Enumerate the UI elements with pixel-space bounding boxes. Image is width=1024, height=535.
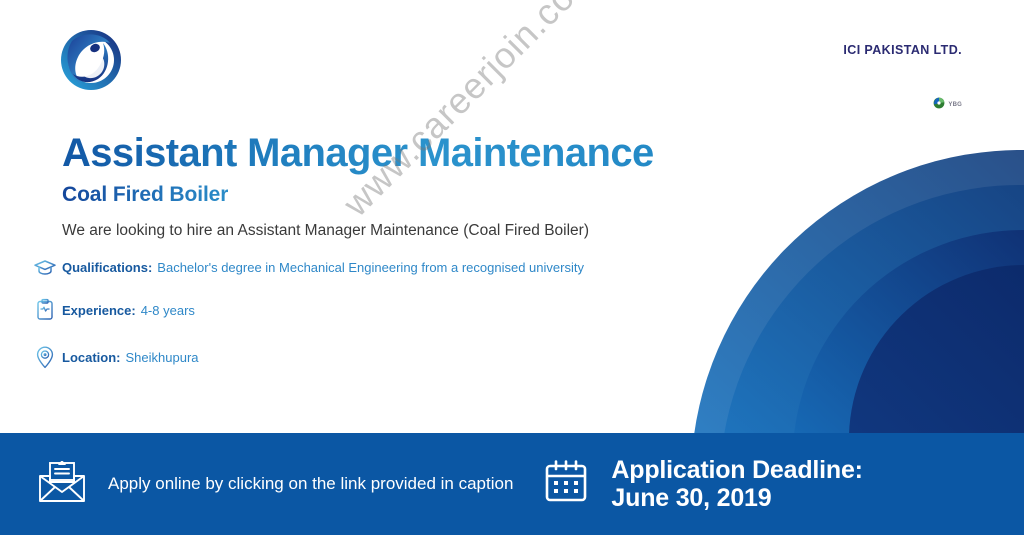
- clipboard-icon: [30, 297, 60, 323]
- graduation-cap-icon: [30, 254, 60, 280]
- job-intro-text: We are looking to hire an Assistant Mana…: [62, 222, 589, 240]
- location-pin-icon: [30, 344, 60, 370]
- experience-label: Experience:: [62, 303, 136, 318]
- ybg-sub-brand: YBG: [933, 96, 962, 114]
- job-subtitle: Coal Fired Boiler: [62, 183, 228, 207]
- detail-row-experience: Experience: 4-8 years: [30, 297, 195, 323]
- site-watermark: www.careerjoin.com: [335, 0, 605, 225]
- qualifications-label: Qualifications:: [62, 260, 152, 275]
- apply-online-block: Apply online by clicking on the link pro…: [0, 461, 513, 508]
- deadline-text: Application Deadline: June 30, 2019: [611, 456, 862, 512]
- ici-swirl-logo-icon: [58, 27, 124, 93]
- application-banner: Apply online by clicking on the link pro…: [0, 433, 1024, 535]
- decorative-arcs: [604, 0, 1024, 435]
- calendar-icon: [543, 459, 589, 510]
- apply-online-text: Apply online by clicking on the link pro…: [108, 474, 513, 494]
- company-name: ICI PAKISTAN LTD.: [843, 43, 962, 57]
- ybg-globe-icon: [933, 96, 945, 114]
- qualifications-value: Bachelor's degree in Mechanical Engineer…: [157, 260, 584, 275]
- ybg-label: YBG: [948, 102, 962, 108]
- job-advertisement-poster: ICI PAKISTAN LTD. YBG Assistant Manager …: [0, 0, 1024, 535]
- deadline-date: June 30, 2019: [611, 484, 771, 512]
- deadline-label: Application Deadline:: [611, 456, 862, 484]
- location-value: Sheikhupura: [126, 350, 199, 365]
- job-title: Assistant Manager Maintenance: [62, 133, 654, 175]
- detail-row-location: Location: Sheikhupura: [30, 344, 199, 370]
- experience-value: 4-8 years: [141, 303, 195, 318]
- location-label: Location:: [62, 350, 121, 365]
- envelope-icon: [36, 461, 88, 508]
- detail-row-qualifications: Qualifications: Bachelor's degree in Mec…: [30, 254, 584, 280]
- deadline-block: Application Deadline: June 30, 2019: [543, 456, 862, 512]
